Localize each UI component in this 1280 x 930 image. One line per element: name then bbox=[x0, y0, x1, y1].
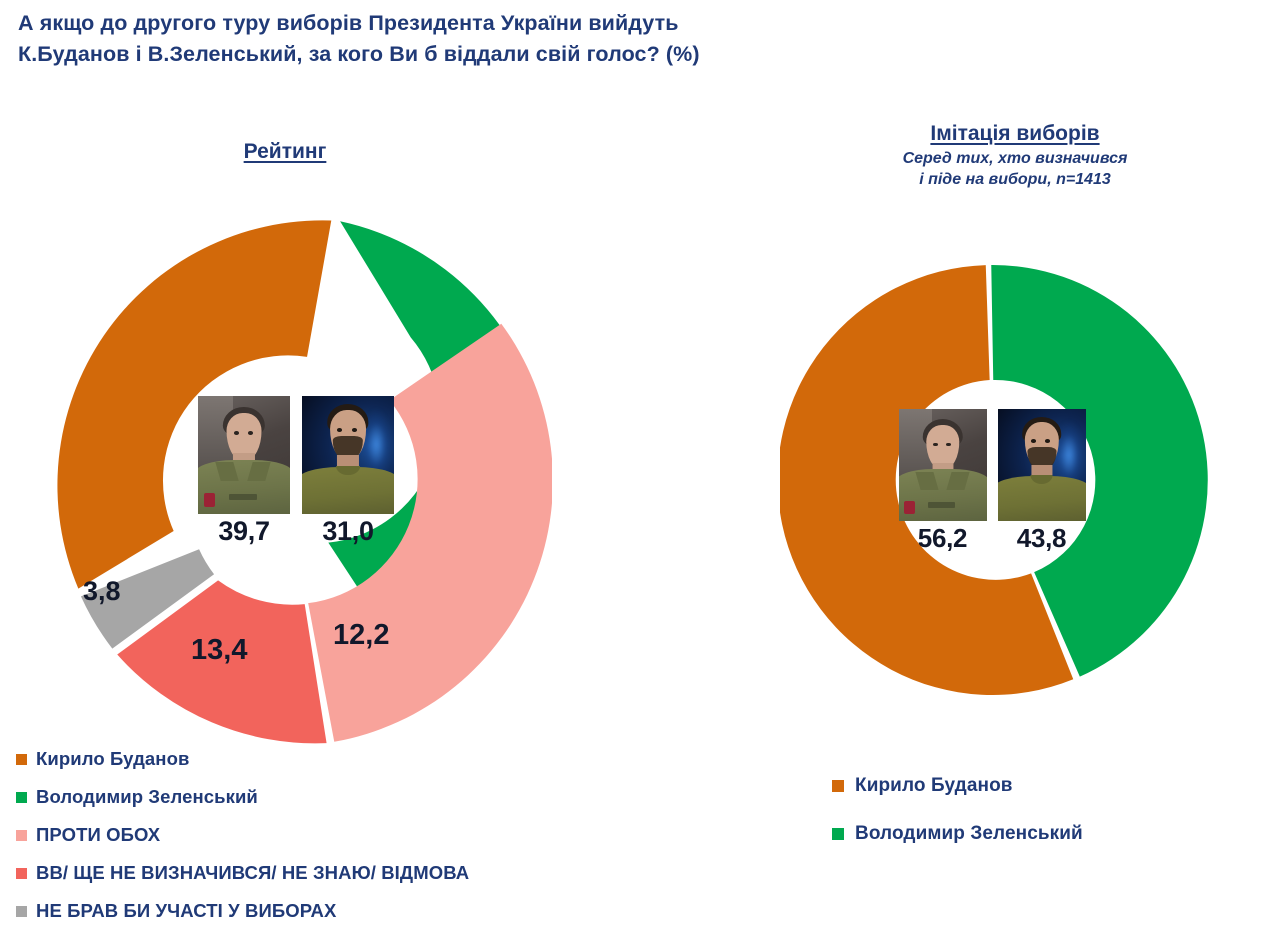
right-person-budanov: 56,2 bbox=[899, 409, 987, 551]
right-chart-heading: Імітація виборів Серед тих, хто визначив… bbox=[840, 122, 1190, 191]
left-chart-heading-text: Рейтинг bbox=[244, 140, 327, 163]
legend-swatch-undecided bbox=[16, 868, 27, 879]
legend-item-undecided[interactable]: ВВ/ ЩЕ НЕ ВИЗНАЧИВСЯ/ НЕ ЗНАЮ/ ВІДМОВА bbox=[16, 854, 469, 892]
legend-item-would-not-vote[interactable]: НЕ БРАВ БИ УЧАСТІ У ВИБОРАХ bbox=[16, 892, 469, 930]
legend-label-zelensky-runoff: Володимир Зеленський bbox=[855, 823, 1083, 845]
legend-swatch-zelensky bbox=[16, 792, 27, 803]
page-title-line-1: А якщо до другого туру виборів Президент… bbox=[18, 8, 918, 39]
right-chart-heading-text: Імітація виборів bbox=[840, 122, 1190, 146]
right-chart-subtitle-line-2: і піде на вибори, n=1413 bbox=[840, 170, 1190, 191]
right-chart-legend: Кирило Буданов Володимир Зеленський bbox=[832, 762, 1083, 858]
left-person-zelensky: 31,0 bbox=[302, 396, 394, 545]
legend-item-budanov-runoff[interactable]: Кирило Буданов bbox=[832, 762, 1083, 810]
right-donut-center: 56,2 43,8 bbox=[886, 409, 1098, 559]
right-value-zelensky: 43,8 bbox=[1017, 525, 1066, 551]
left-value-budanov: 39,7 bbox=[218, 518, 269, 545]
legend-item-budanov[interactable]: Кирило Буданов bbox=[16, 740, 469, 778]
left-person-budanov: 39,7 bbox=[198, 396, 290, 545]
page-title-line-2: К.Буданов і В.Зеленський, за кого Ви б в… bbox=[18, 39, 918, 70]
left-chart-heading: Рейтинг bbox=[155, 140, 415, 164]
left-chart-legend: Кирило Буданов Володимир Зеленський ПРОТ… bbox=[16, 740, 469, 930]
legend-swatch-zelensky-runoff bbox=[832, 828, 844, 840]
legend-label-zelensky: Володимир Зеленський bbox=[36, 786, 258, 808]
left-value-zelensky: 31,0 bbox=[322, 518, 373, 545]
legend-label-undecided: ВВ/ ЩЕ НЕ ВИЗНАЧИВСЯ/ НЕ ЗНАЮ/ ВІДМОВА bbox=[36, 862, 469, 884]
zelensky-photo bbox=[998, 409, 1086, 521]
right-chart-subtitle-line-1: Серед тих, хто визначився bbox=[840, 149, 1190, 170]
legend-item-against-both[interactable]: ПРОТИ ОБОХ bbox=[16, 816, 469, 854]
legend-item-zelensky-runoff[interactable]: Володимир Зеленський bbox=[832, 810, 1083, 858]
budanov-photo bbox=[899, 409, 987, 521]
legend-swatch-against-both bbox=[16, 830, 27, 841]
legend-label-budanov: Кирило Буданов bbox=[36, 748, 189, 770]
right-person-zelensky: 43,8 bbox=[998, 409, 1086, 551]
legend-label-budanov-runoff: Кирило Буданов bbox=[855, 775, 1013, 797]
legend-swatch-budanov-runoff bbox=[832, 780, 844, 792]
page-title: А якщо до другого туру виборів Президент… bbox=[18, 8, 918, 69]
legend-label-would-not-vote: НЕ БРАВ БИ УЧАСТІ У ВИБОРАХ bbox=[36, 900, 336, 922]
legend-label-against-both: ПРОТИ ОБОХ bbox=[36, 824, 160, 846]
legend-swatch-budanov bbox=[16, 754, 27, 765]
left-donut-center: 39,7 31,0 bbox=[186, 396, 406, 556]
infographic-page: А якщо до другого туру виборів Президент… bbox=[0, 0, 1280, 922]
legend-item-zelensky[interactable]: Володимир Зеленський bbox=[16, 778, 469, 816]
budanov-photo bbox=[198, 396, 290, 514]
right-value-budanov: 56,2 bbox=[918, 525, 967, 551]
legend-swatch-would-not-vote bbox=[16, 906, 27, 917]
zelensky-photo bbox=[302, 396, 394, 514]
